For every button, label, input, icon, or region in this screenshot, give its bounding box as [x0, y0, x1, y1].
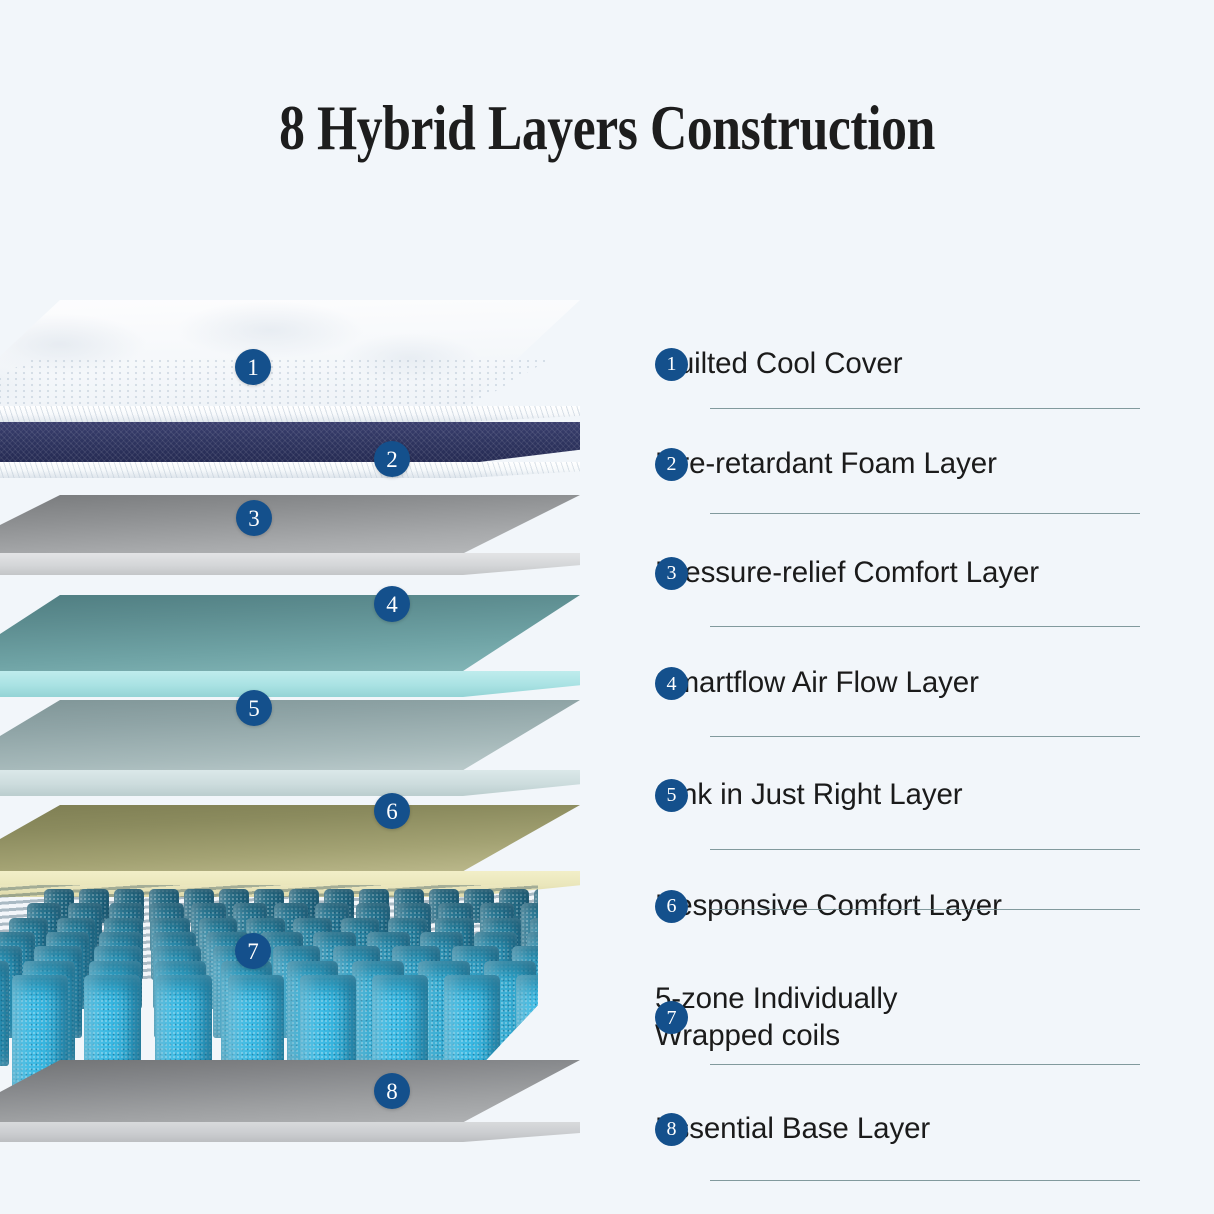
layer-front-edge — [0, 553, 580, 575]
layer-top-face — [0, 595, 580, 673]
legend-label-4: Smartflow Air Flow Layer — [655, 665, 979, 702]
diagram-badge-4: 4 — [374, 586, 410, 622]
layer-front-edge — [0, 770, 580, 796]
legend-divider — [710, 849, 1140, 850]
legend-divider — [710, 736, 1140, 737]
legend-label-8: Essential Base Layer — [655, 1111, 930, 1148]
layers-legend: 1 Quilted Cool Cover 2 Fire-retardant Fo… — [655, 318, 1155, 1184]
diagram-badge-8: 8 — [374, 1073, 410, 1109]
layer-front-edge — [0, 671, 580, 697]
diagram-badge-6: 6 — [374, 793, 410, 829]
legend-label-5: Sink in Just Right Layer — [655, 777, 963, 814]
legend-divider — [710, 513, 1140, 514]
layer-top-face — [0, 805, 580, 873]
legend-divider — [710, 1180, 1140, 1181]
pocket-coil — [550, 961, 602, 1067]
legend-item-sink-in-just-right: 5 Sink in Just Right Layer — [655, 739, 1155, 851]
diagram-badge-7: 7 — [235, 933, 271, 969]
legend-item-responsive-comfort: 6 Responsive Comfort Layer — [655, 851, 1155, 961]
legend-item-essential-base: 8 Essential Base Layer — [655, 1074, 1155, 1184]
legend-badge-4: 4 — [655, 667, 688, 700]
legend-divider — [710, 909, 1140, 910]
layer-top-face — [0, 422, 580, 464]
layer-top-face — [0, 1060, 580, 1124]
legend-label-6: Responsive Comfort Layer — [655, 888, 1002, 925]
mattress-layers-diagram — [0, 300, 640, 1130]
pocket-coil — [562, 903, 596, 951]
layer-top-face — [0, 700, 580, 772]
legend-label-1: Quilted Cool Cover — [655, 346, 902, 383]
legend-item-quilted-cool-cover: 1 Quilted Cool Cover — [655, 318, 1155, 410]
legend-item-pressure-relief-comfort: 3 Pressure-relief Comfort Layer — [655, 518, 1155, 628]
legend-item-smartflow-air-flow: 4 Smartflow Air Flow Layer — [655, 628, 1155, 739]
legend-divider — [710, 408, 1140, 409]
legend-item-wrapped-coils: 7 5-zone Individually Wrapped coils — [655, 961, 1155, 1074]
pocket-coil — [534, 889, 564, 923]
legend-badge-8: 8 — [655, 1113, 688, 1146]
pocket-coil — [571, 946, 618, 1037]
legend-badge-2: 2 — [655, 448, 688, 481]
pocket-coil — [569, 889, 599, 923]
cover-piping-lower — [0, 462, 580, 478]
coil-field — [0, 885, 600, 1090]
legend-badge-3: 3 — [655, 557, 688, 590]
diagram-badge-1: 1 — [235, 349, 271, 385]
cover-piping — [0, 406, 580, 422]
legend-divider — [710, 1064, 1140, 1065]
layer-top-face — [0, 495, 580, 555]
layer-front-edge — [0, 1122, 580, 1142]
pocket-coil — [577, 918, 616, 981]
legend-badge-5: 5 — [655, 779, 688, 812]
legend-divider — [710, 626, 1140, 627]
diagram-layer-wrapped-coils — [0, 885, 600, 1090]
quilt-texture — [0, 358, 580, 412]
diagram-badge-3: 3 — [236, 500, 272, 536]
legend-badge-6: 6 — [655, 890, 688, 923]
legend-label-7: 5-zone Individually Wrapped coils — [655, 981, 985, 1054]
legend-badge-1: 1 — [655, 348, 688, 381]
diagram-badge-5: 5 — [236, 690, 272, 726]
legend-label-3: Pressure-relief Comfort Layer — [655, 555, 1039, 592]
legend-label-2: Fire-retardant Foam Layer — [655, 446, 997, 483]
page-title: 8 Hybrid Layers Construction — [109, 92, 1104, 165]
diagram-badge-2: 2 — [374, 441, 410, 477]
legend-badge-7: 7 — [655, 1001, 688, 1034]
legend-item-fire-retardant-foam: 2 Fire-retardant Foam Layer — [655, 410, 1155, 518]
